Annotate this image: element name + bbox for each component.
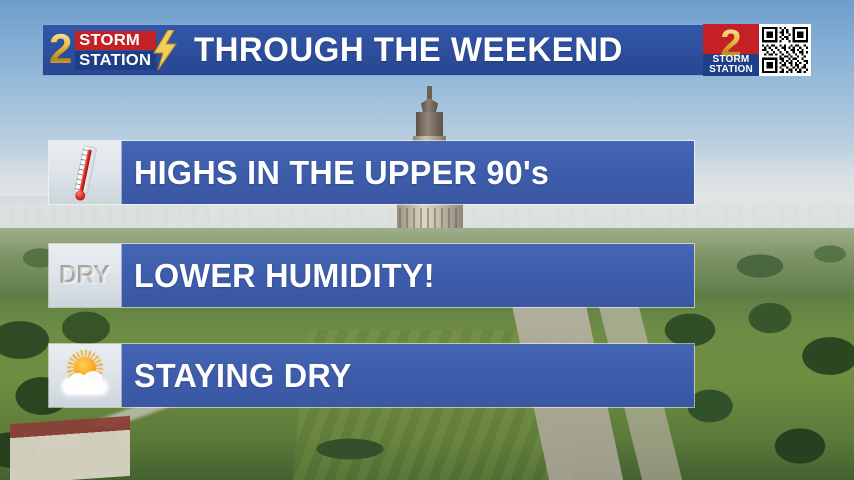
lightning-bolt-icon (152, 30, 178, 70)
dry-icon-label: DRY (60, 261, 110, 290)
topiary-hedge (295, 432, 405, 466)
forecast-row: DRY LOWER HUMIDITY! (48, 243, 695, 308)
corner-branding: 2 STORM STATION (703, 24, 811, 76)
logo-storm-text: STORM (75, 31, 156, 50)
capitol-spire (427, 86, 432, 100)
forecast-row-bar: HIGHS IN THE UPPER 90's (121, 141, 694, 204)
logo-channel-number: 2 (45, 28, 74, 73)
thermometer-icon (49, 141, 121, 204)
dry-text-icon: DRY (49, 244, 121, 307)
weather-broadcast-graphic: 2 STORM STATION THROUGH THE WEEKEND 2 ST… (0, 0, 854, 480)
forecast-row-bar: STAYING DRY (121, 344, 694, 407)
forecast-row-text: LOWER HUMIDITY! (134, 257, 435, 295)
forecast-row-text: STAYING DRY (134, 357, 352, 395)
forecast-row-text: HIGHS IN THE UPPER 90's (134, 154, 549, 192)
storm-station-logo: 2 STORM STATION (45, 26, 180, 74)
capitol-base-windows (399, 208, 461, 230)
logo-station-text: STATION (75, 51, 156, 70)
qr-code-icon[interactable] (759, 24, 811, 76)
page-title: THROUGH THE WEEKEND (194, 31, 688, 70)
logo-text-stack: STORM STATION (75, 31, 153, 70)
forecast-row: HIGHS IN THE UPPER 90's (48, 140, 695, 205)
header-bar: 2 STORM STATION THROUGH THE WEEKEND 2 ST… (42, 24, 812, 76)
forecast-row: STAYING DRY (48, 343, 695, 408)
capitol-tower-crown (416, 112, 443, 138)
badge-station-text: STATION (703, 65, 759, 75)
forecast-row-bar: LOWER HUMIDITY! (121, 244, 694, 307)
sun-behind-cloud-icon (49, 344, 121, 407)
corner-station-badge: 2 STORM STATION (703, 24, 759, 76)
red-roof-building (10, 416, 130, 480)
